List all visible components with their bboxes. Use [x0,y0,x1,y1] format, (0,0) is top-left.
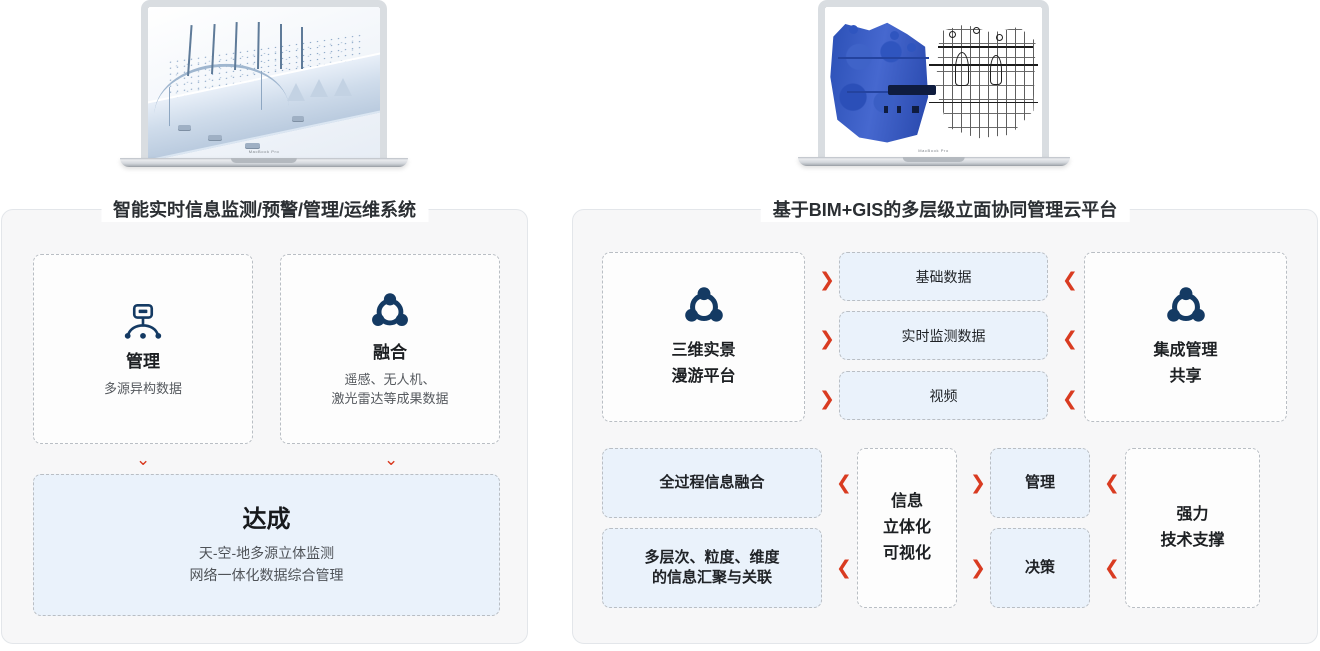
item-jichu-shuju-label: 基础数据 [916,267,972,287]
screen-artwork-bridge-pointcloud [148,7,380,158]
card-qiangli-jishu-zhicheng-label: 强力 技术支撑 [1160,502,1224,554]
card-xinxi-liti-keshi[interactable]: 信息 立体化 可视化 [857,448,957,608]
card-sanwei-shijing[interactable]: 三维实景 漫游平台 [602,252,805,422]
right-panel: 基于BIM+GIS的多层级立面协同管理云平台 三维实景 漫游平台 ❯ ❯ ❯ 基… [572,209,1318,644]
item-quanguocheng-xinxi-ronghe[interactable]: 全过程信息融合 [602,448,822,518]
laptop-plant-wireframe: MacBook Pro [818,0,1049,162]
card-dacheng[interactable]: 达成 天-空-地多源立体监测 网络一体化数据综合管理 [33,474,500,616]
chevron-right-icon-r2-1: ❯ [970,474,986,493]
card-guanli-title: 管理 [126,351,160,373]
item-guanli[interactable]: 管理 [990,448,1090,518]
item-duocengci-xinxi[interactable]: 多层次、粒度、维度 的信息汇聚与关联 [602,528,822,608]
chevron-left-icon-r2-4: ❮ [1104,559,1120,578]
card-xinxi-liti-keshi-label: 信息 立体化 可视化 [883,489,931,567]
chevron-down-icon-1: ⌄ [136,452,150,469]
card-sanwei-shijing-label: 三维实景 漫游平台 [671,338,735,390]
screen-artwork-plant-wireframe [825,7,1042,157]
item-guanli-label: 管理 [1025,473,1055,493]
card-ronghe-title: 融合 [373,342,407,364]
chevron-right-icon-r1-3: ❯ [819,390,835,409]
monitor-network-icon [122,300,164,342]
laptop-bridge-pointcloud: MacBook Pro [141,0,387,162]
chevron-right-icon-r2-2: ❯ [970,559,986,578]
chevron-left-icon-r2-1: ❮ [836,474,852,493]
fusion-share-icon [682,285,726,329]
chevron-right-icon-r1-2: ❯ [819,330,835,349]
item-duocengci-xinxi-label: 多层次、粒度、维度 的信息汇聚与关联 [644,548,779,588]
chevron-left-icon-r2-2: ❮ [836,559,852,578]
card-ronghe[interactable]: 融合 遥感、无人机、 激光雷达等成果数据 [280,254,500,444]
item-juece[interactable]: 决策 [990,528,1090,608]
card-dacheng-title: 达成 [243,505,291,535]
chevron-right-icon-r1-1: ❯ [819,271,835,290]
chevron-left-icon-r1-3: ❮ [1062,390,1078,409]
card-dacheng-sub: 天-空-地多源立体监测 网络一体化数据综合管理 [190,542,344,586]
chevron-down-icon-2: ⌄ [384,452,398,469]
left-panel: 智能实时信息监测/预警/管理/运维系统 管理 多源异构数据 [1,209,528,644]
card-qiangli-jishu-zhicheng[interactable]: 强力 技术支撑 [1125,448,1260,608]
laptop-brand-label: MacBook Pro [249,149,280,154]
laptop-brand-label: MacBook Pro [918,148,949,153]
card-jicheng-guanli-label: 集成管理 共享 [1153,338,1217,390]
card-guanli[interactable]: 管理 多源异构数据 [33,254,253,444]
item-shipin[interactable]: 视频 [839,371,1048,420]
card-jicheng-guanli[interactable]: 集成管理 共享 [1084,252,1287,422]
fusion-share-icon [1164,285,1208,329]
card-guanli-sub: 多源异构数据 [104,379,182,398]
fusion-share-icon [369,291,411,333]
card-ronghe-sub: 遥感、无人机、 激光雷达等成果数据 [331,370,448,408]
left-panel-title: 智能实时信息监测/预警/管理/运维系统 [101,198,428,222]
item-jichu-shuju[interactable]: 基础数据 [839,252,1048,301]
chevron-left-icon-r1-1: ❮ [1062,271,1078,290]
chevron-left-icon-r2-3: ❮ [1104,474,1120,493]
item-shishi-jiance-shuju-label: 实时监测数据 [902,326,986,346]
item-shishi-jiance-shuju[interactable]: 实时监测数据 [839,311,1048,360]
chevron-left-icon-r1-2: ❮ [1062,330,1078,349]
item-quanguocheng-xinxi-ronghe-label: 全过程信息融合 [659,473,764,493]
right-panel-title: 基于BIM+GIS的多层级立面协同管理云平台 [761,198,1130,222]
item-juece-label: 决策 [1025,558,1055,578]
item-shipin-label: 视频 [930,386,958,406]
device-mockups-row: MacBook Pro [0,0,1320,182]
